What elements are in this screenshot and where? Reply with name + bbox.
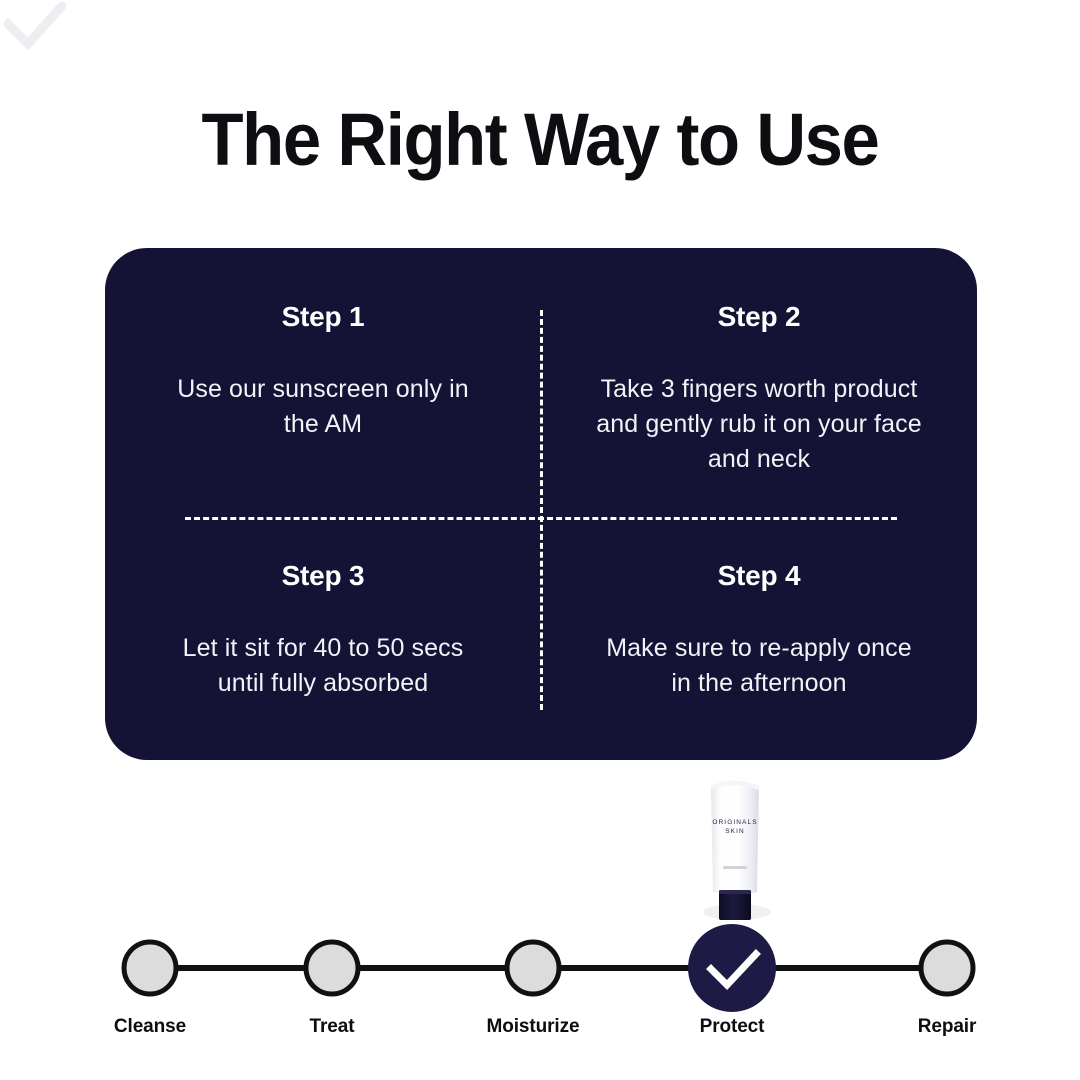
stepper-node-protect <box>688 924 776 1012</box>
step-cell-4: Step 4 Make sure to re-apply once in the… <box>541 504 977 760</box>
step-cell-1: Step 1 Use our sunscreen only in the AM <box>105 248 541 504</box>
step-cell-3: Step 3 Let it sit for 40 to 50 secs unti… <box>105 504 541 760</box>
step-2-heading: Step 2 <box>718 300 801 334</box>
svg-text:ORIGINALS: ORIGINALS <box>712 819 757 826</box>
stepper-node-cleanse <box>124 942 176 994</box>
svg-text:SKIN: SKIN <box>725 828 745 835</box>
steps-card: Step 1 Use our sunscreen only in the AM … <box>105 248 977 760</box>
stepper-node-moisturize <box>507 942 559 994</box>
routine-stepper <box>0 890 1080 1080</box>
step-4-heading: Step 4 <box>718 559 801 593</box>
step-4-body: Make sure to re-apply once in the aftern… <box>594 631 924 701</box>
step-2-body: Take 3 fingers worth product and gently … <box>594 372 924 477</box>
page-title: The Right Way to Use <box>38 98 1042 182</box>
stepper-node-treat <box>306 942 358 994</box>
horizontal-dashed-divider <box>185 517 897 520</box>
stepper-label-repair[interactable]: Repair <box>918 1016 977 1038</box>
stepper-label-cleanse[interactable]: Cleanse <box>114 1016 186 1038</box>
infographic-canvas: The Right Way to Use Step 1 Use our suns… <box>0 0 1080 1080</box>
stepper-label-protect[interactable]: Protect <box>700 1016 765 1038</box>
step-1-body: Use our sunscreen only in the AM <box>158 372 488 442</box>
step-1-heading: Step 1 <box>282 300 365 334</box>
step-3-heading: Step 3 <box>282 559 365 593</box>
step-3-body: Let it sit for 40 to 50 secs until fully… <box>158 631 488 701</box>
stepper-label-moisturize[interactable]: Moisturize <box>487 1016 580 1038</box>
check-watermark-icon <box>4 2 66 54</box>
vertical-dashed-divider <box>540 310 543 710</box>
step-cell-2: Step 2 Take 3 fingers worth product and … <box>541 248 977 504</box>
stepper-node-repair <box>921 942 973 994</box>
stepper-label-treat[interactable]: Treat <box>310 1016 355 1038</box>
